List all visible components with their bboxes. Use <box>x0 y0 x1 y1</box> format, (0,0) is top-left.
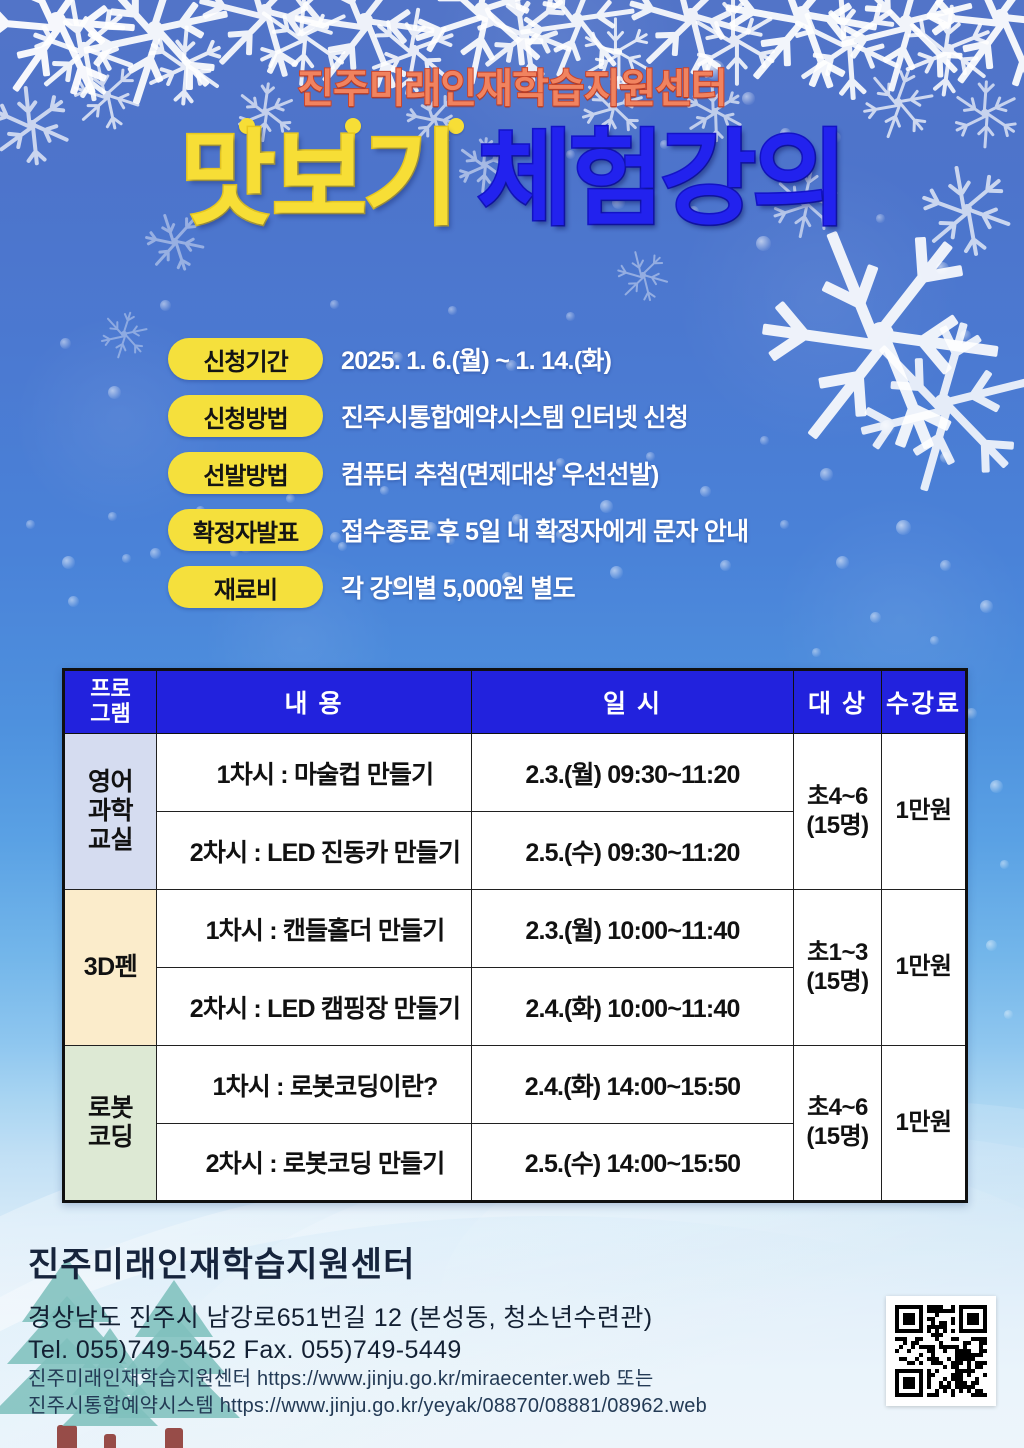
snowflake-icon <box>15 0 100 63</box>
program-header-line1: 프로 <box>65 677 156 702</box>
bokeh-dot <box>930 636 939 645</box>
snowflake-icon <box>653 0 730 53</box>
cell-when: 2.5.(수) 09:30~11:20 <box>472 812 794 890</box>
snowflake-arm <box>411 33 454 52</box>
snowflake-arm <box>122 312 131 335</box>
qr-code-canvas <box>895 1305 987 1397</box>
cell-content: 2차시 : LED 캠핑장 만들기 <box>157 968 472 1046</box>
bokeh-dot <box>566 312 575 321</box>
snowflake-arm <box>946 30 990 51</box>
snowflake-hub <box>145 19 164 38</box>
snowflake-arm <box>643 276 652 302</box>
bokeh-dot <box>1000 860 1009 869</box>
snowflake-arm <box>643 274 669 283</box>
main-title-part2: 체험강의 <box>477 122 844 238</box>
snowflake-arm <box>826 231 880 344</box>
cell-target: 초4~6(15명) <box>794 1046 882 1202</box>
snowflake-arm <box>240 0 264 16</box>
snowflake-arm <box>584 35 617 56</box>
snowflake-arm <box>690 12 751 34</box>
target-line1: 초4~6 <box>794 1094 881 1123</box>
snowflake-arm <box>149 0 178 32</box>
snowflake-arm <box>0 18 57 32</box>
snowflake-arm <box>769 0 801 20</box>
info-label-pill: 재료비 <box>168 566 323 608</box>
cell-program: 3D펜 <box>64 890 157 1046</box>
snowflake-arm <box>794 20 847 49</box>
info-row: 재료비각 강의별 5,000원 별도 <box>0 564 1024 610</box>
snowflake-hub <box>897 13 915 31</box>
snowflake-arm <box>838 0 847 45</box>
bokeh-dot <box>986 940 997 951</box>
snowflake-arm <box>520 22 578 35</box>
info-row: 신청기간2025. 1. 6.(월) ~ 1. 14.(화) <box>0 336 1024 382</box>
snowflake-arm <box>731 0 735 42</box>
cell-when: 2.4.(화) 14:00~15:50 <box>472 1046 794 1124</box>
cell-content: 1차시 : 캔들홀더 만들기 <box>157 890 472 968</box>
snowflake-arm <box>909 22 948 54</box>
cell-program: 영어과학교실 <box>64 734 157 890</box>
snowflake-arm <box>995 0 1024 20</box>
snowflake-arm <box>199 0 264 20</box>
snowflake-arm <box>844 9 893 44</box>
snowflake-icon <box>627 259 659 291</box>
snowflake-arm <box>333 0 365 26</box>
info-label-pill: 신청기간 <box>168 338 323 380</box>
snowflake-arm <box>855 0 907 29</box>
snowflake-arm <box>175 241 187 270</box>
snowflake-arm <box>616 33 649 54</box>
snowflake-hub <box>570 12 584 26</box>
schedule-table: 프로 그램 내 용 일 시 대 상 수강료 영어과학교실1차시 : 마술컵 만들… <box>62 668 968 1203</box>
snowflake-hub <box>942 42 956 56</box>
snowflake-arm <box>483 8 541 61</box>
bokeh-dot <box>330 300 339 309</box>
snowflake-arm <box>725 4 801 24</box>
cell-content: 2차시 : LED 진동카 만들기 <box>157 812 472 890</box>
snowflake-arm <box>524 29 572 52</box>
snowflake-icon <box>758 0 846 58</box>
footer-phone: Tel. 055)749-5452 Fax. 055)749-5449 <box>28 1334 868 1366</box>
snowflake-icon <box>865 0 947 63</box>
snowflake-hub <box>430 114 437 121</box>
snowflake-hub <box>48 12 67 31</box>
cell-when: 2.5.(수) 14:00~15:50 <box>472 1124 794 1202</box>
cell-when: 2.3.(월) 09:30~11:20 <box>472 734 794 812</box>
snowflake-arm <box>964 0 1000 23</box>
snowflake-arm <box>905 3 972 25</box>
snowflake-arm <box>872 241 953 341</box>
snowflake-arm <box>686 0 734 18</box>
snowflake-icon <box>544 0 610 52</box>
snowflake-arm <box>513 0 524 34</box>
snowflake-icon <box>437 0 528 55</box>
snowflake-arm <box>425 0 483 18</box>
table-row: 3D펜1차시 : 캔들홀더 만들기2.3.(월) 10:00~11:40초1~3… <box>64 890 967 968</box>
footer-url-line2: 진주시통합예약시스템 https://www.jinju.go.kr/yeyak… <box>28 1393 868 1420</box>
pine-trunk <box>57 1425 77 1448</box>
column-header-fee: 수강료 <box>882 670 967 734</box>
snowflake-icon <box>325 0 404 61</box>
snowflake-arm <box>365 18 435 34</box>
snowflake-hub <box>171 237 179 245</box>
cell-when: 2.4.(화) 10:00~11:40 <box>472 968 794 1046</box>
info-value: 진주시통합예약시스템 인터넷 신청 <box>341 398 688 434</box>
info-label-pill: 확정자발표 <box>168 509 323 551</box>
info-value: 컴퓨터 추첨(면제대상 우선선발) <box>341 455 659 491</box>
snowflake-hub <box>356 12 373 29</box>
cell-program: 로봇코딩 <box>64 1046 157 1202</box>
snowflake-arm <box>107 317 125 336</box>
footer-url-line1: 진주미래인재학습지원센터 https://www.jinju.go.kr/mir… <box>28 1366 868 1393</box>
snowflake-arm <box>733 16 773 41</box>
snowflake-hub <box>295 29 309 43</box>
snowflake-arm <box>264 8 329 30</box>
snowflake-arm <box>154 10 228 32</box>
snowflake-arm <box>521 0 563 33</box>
target-line2: (15명) <box>794 812 881 841</box>
pine-trunk <box>104 1434 116 1448</box>
snowflake-icon <box>492 0 557 64</box>
info-value: 2025. 1. 6.(월) ~ 1. 14.(화) <box>341 341 611 377</box>
target-line1: 초1~3 <box>794 939 881 968</box>
snowflake-arm <box>294 14 364 30</box>
snowflake-arm <box>406 113 434 121</box>
column-header-program: 프로 그램 <box>64 670 157 734</box>
snowflake-arm <box>83 32 157 54</box>
snowflake-arm <box>376 23 412 54</box>
snowflake-arm <box>641 256 661 276</box>
table-body: 영어과학교실1차시 : 마술컵 만들기2.3.(월) 09:30~11:20초4… <box>64 734 967 1202</box>
snowflake-hub <box>683 7 700 24</box>
snowflake-hub <box>639 271 646 278</box>
bokeh-dot <box>812 648 821 657</box>
snowflake-arm <box>17 0 56 27</box>
snowflake-arm <box>796 0 850 17</box>
snowflake-arm <box>1001 14 1024 28</box>
bokeh-dot <box>936 262 949 275</box>
info-value: 각 강의별 5,000원 별도 <box>341 569 575 605</box>
snowflake-icon <box>960 0 1024 58</box>
footer: 진주미래인재학습지원센터 경상남도 진주시 남강로651번길 12 (본성동, … <box>28 1237 868 1420</box>
snowflake-arm <box>476 14 524 37</box>
snowflake-hub <box>77 41 92 56</box>
column-header-target: 대 상 <box>794 670 882 734</box>
snowflake-hub <box>992 8 1010 26</box>
table-header-row: 프로 그램 내 용 일 시 대 상 수강료 <box>64 670 967 734</box>
snowflake-arm <box>51 0 101 24</box>
info-row: 확정자발표접수종료 후 5일 내 확정자에게 문자 안내 <box>0 507 1024 553</box>
snowflake-hub <box>840 34 856 50</box>
snowflake-arm <box>124 328 148 335</box>
column-header-when: 일 시 <box>472 670 794 734</box>
snowflake-arm <box>145 236 175 245</box>
footer-address: 경상남도 진주시 남강로651번길 12 (본성동, 청소년수련관) <box>28 1302 868 1334</box>
info-value: 접수종료 후 5일 내 확정자에게 문자 안내 <box>341 512 748 548</box>
target-line1: 초4~6 <box>794 783 881 812</box>
bokeh-dot <box>990 780 1003 793</box>
snowflake-arm <box>260 0 310 14</box>
program-name-line: 영어 <box>65 768 156 797</box>
snowflake-arm <box>629 1 690 23</box>
snowflake-arm <box>301 14 346 38</box>
snowflake-hub <box>727 33 740 46</box>
snowflake-arm <box>80 13 123 50</box>
column-header-content: 내 용 <box>157 670 472 734</box>
table-row: 영어과학교실1차시 : 마술컵 만들기2.3.(월) 09:30~11:20초4… <box>64 734 967 812</box>
cell-fee: 1만원 <box>882 1046 967 1202</box>
snowflake-arm <box>801 11 877 31</box>
program-name-line: 3D펜 <box>65 953 156 982</box>
main-title-part1: 맛보기 <box>180 122 455 238</box>
snowflake-arm <box>175 240 205 249</box>
pine-trunk <box>165 1428 182 1448</box>
snowflake-arm <box>299 0 307 38</box>
snowflake-arm <box>261 10 303 41</box>
snowflake-arm <box>926 13 1000 27</box>
snowflake-arm <box>573 0 600 22</box>
snowflake-arm <box>57 18 135 32</box>
snowflake-arm <box>577 8 635 21</box>
snowflake-arm <box>670 0 690 19</box>
cell-target: 초4~6(15명) <box>794 734 882 890</box>
table-header: 프로 그램 내 용 일 시 대 상 수강료 <box>64 670 967 734</box>
snowflake-hub <box>472 0 492 20</box>
cell-target: 초1~3(15명) <box>794 890 882 1046</box>
table-row: 로봇코딩1차시 : 로봇코딩이란?2.4.(화) 14:00~15:50초4~6… <box>64 1046 967 1124</box>
target-line2: (15명) <box>794 1123 881 1152</box>
snowflake-arm <box>409 7 421 51</box>
snowflake-arm <box>614 17 617 53</box>
snowflake-arm <box>101 0 155 37</box>
program-header-line2: 그램 <box>65 702 156 727</box>
snowflake-arm <box>634 251 643 277</box>
snowflake-hub <box>256 2 274 20</box>
snowflake-arm <box>538 0 578 25</box>
snowflake-arm <box>33 32 83 54</box>
cell-when: 2.3.(월) 10:00~11:40 <box>472 890 794 968</box>
qr-code[interactable] <box>886 1296 996 1406</box>
info-row: 신청방법진주시통합예약시스템 인터넷 신청 <box>0 393 1024 439</box>
program-name-line: 과학 <box>65 797 156 826</box>
program-name-line: 코딩 <box>65 1123 156 1152</box>
bokeh-dot <box>160 300 171 311</box>
main-title: 맛보기체험강의 <box>0 126 1024 235</box>
cell-content: 2차시 : 로봇코딩 만들기 <box>157 1124 472 1202</box>
info-label-pill: 선발방법 <box>168 452 323 494</box>
snowflake-arm <box>841 25 908 47</box>
cell-fee: 1만원 <box>882 890 967 1046</box>
bokeh-dot <box>448 306 457 315</box>
bokeh-dot <box>756 236 771 251</box>
snowflake-arm <box>70 0 84 51</box>
info-label-pill: 신청방법 <box>168 395 323 437</box>
cell-content: 1차시 : 마술컵 만들기 <box>157 734 472 812</box>
snowflake-icon <box>225 0 305 51</box>
snowflake-arm <box>155 242 177 266</box>
snowflake-arm <box>944 4 954 50</box>
info-row: 선발방법컴퓨터 추첨(면제대상 우선선발) <box>0 450 1024 496</box>
snowflake-hub <box>518 24 532 38</box>
snowflake-arm <box>415 13 485 41</box>
target-line2: (15명) <box>794 968 881 997</box>
snowflake-hub <box>792 4 811 23</box>
program-name-line: 교실 <box>65 826 156 855</box>
snowflake-arm <box>360 0 408 24</box>
snowflake-arm <box>617 269 643 278</box>
bokeh-dot <box>1004 1010 1013 1019</box>
program-name-line: 로봇 <box>65 1094 156 1123</box>
snowflake-arm <box>477 0 498 13</box>
snowflake-arm <box>481 0 551 13</box>
cell-content: 1차시 : 로봇코딩이란? <box>157 1046 472 1124</box>
snowflake-arm <box>901 0 926 25</box>
snowflake-hub <box>407 43 421 57</box>
snowflake-arm <box>695 20 735 45</box>
snowflake-arm <box>624 276 644 296</box>
poster-root: 진주미래인재학습지원센터 맛보기체험강의 신청기간2025. 1. 6.(월) … <box>0 0 1024 1448</box>
cell-fee: 1만원 <box>882 734 967 890</box>
organization-title: 진주미래인재학습지원센터 <box>0 56 1024 114</box>
info-block: 신청기간2025. 1. 6.(월) ~ 1. 14.(화)신청방법진주시통합예… <box>0 336 1024 621</box>
footer-center-name: 진주미래인재학습지원센터 <box>28 1237 868 1286</box>
